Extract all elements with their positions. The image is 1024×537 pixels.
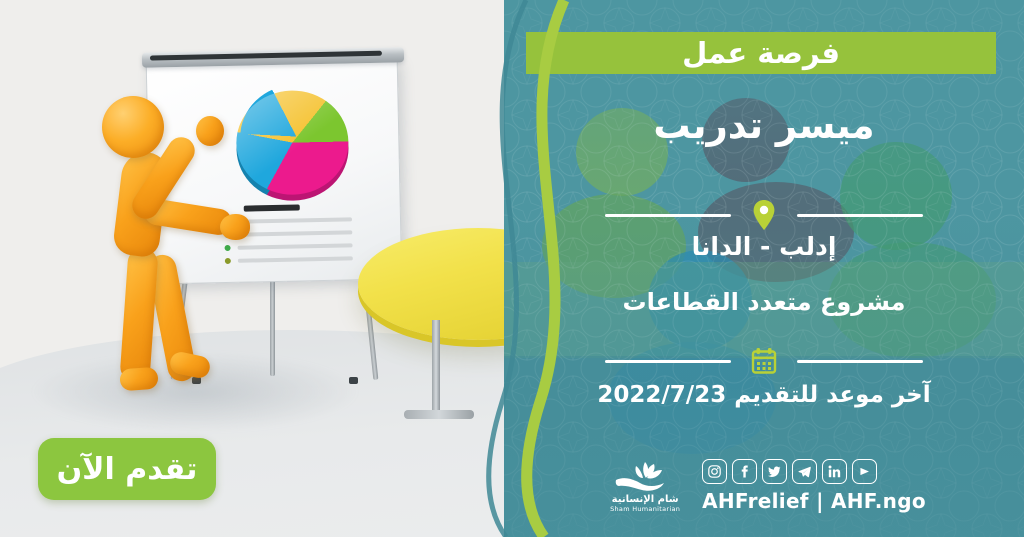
twitter-icon[interactable] bbox=[762, 459, 787, 484]
figure-hand-raised bbox=[196, 116, 224, 146]
youtube-icon[interactable] bbox=[852, 459, 877, 484]
social-handle: AHFrelief | AHF.ngo bbox=[702, 489, 926, 513]
figure-hand-forward bbox=[220, 214, 250, 240]
divider-line-right bbox=[797, 360, 923, 363]
apply-now-label: تقدم الآن bbox=[57, 452, 198, 487]
figure-foot-front bbox=[119, 367, 158, 392]
flipchart-clamp bbox=[150, 51, 382, 61]
curve-divider bbox=[430, 0, 660, 537]
facebook-icon[interactable] bbox=[732, 459, 757, 484]
telegram-icon[interactable] bbox=[792, 459, 817, 484]
map-pin-icon bbox=[747, 198, 781, 232]
flipchart-foot-right bbox=[349, 377, 358, 384]
social-and-handle: AHFrelief | AHF.ngo bbox=[702, 459, 926, 513]
apply-now-button[interactable]: تقدم الآن bbox=[38, 438, 216, 500]
linkedin-icon[interactable] bbox=[822, 459, 847, 484]
calendar-icon bbox=[747, 344, 781, 378]
instagram-icon[interactable] bbox=[702, 459, 727, 484]
divider-line-right bbox=[797, 214, 923, 217]
figure-leg-front bbox=[119, 247, 158, 383]
figure-head bbox=[102, 96, 164, 158]
social-icons-row bbox=[702, 459, 877, 484]
ribbon-label: فرصة عمل bbox=[682, 36, 840, 70]
job-poster: فرصة عمل ميسر تدريب إدلب - الدانا مشروع … bbox=[0, 0, 1024, 537]
presenter-figure bbox=[96, 96, 286, 416]
